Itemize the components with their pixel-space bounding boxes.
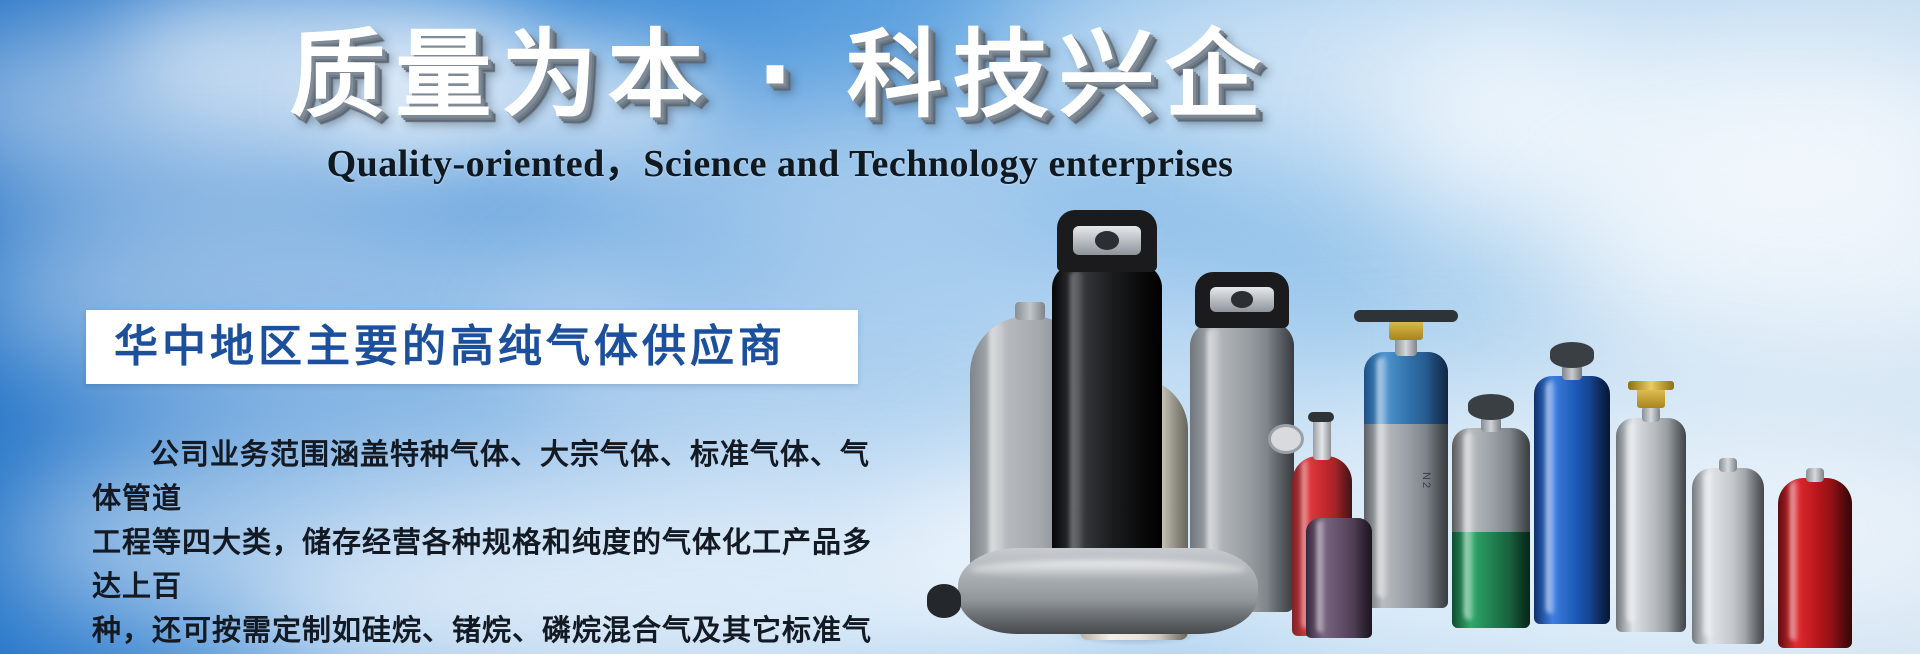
cylinder-neck: [1313, 418, 1331, 460]
cylinder-shade: [958, 601, 1258, 634]
description-paragraph: 公司业务范围涵盖特种气体、大宗气体、标准气体、气体管道 工程等四大类，储存经营各…: [92, 432, 872, 654]
cylinder-neck: [1806, 468, 1824, 482]
cylinder-guard-cap: [1057, 210, 1157, 272]
cylinder-blue-valve: N2: [1364, 352, 1448, 608]
cylinder-body: [1052, 264, 1162, 594]
cylinder-body: [1534, 376, 1610, 624]
cylinder-silver-small: [1692, 468, 1764, 644]
cylinder-black-tall: [1052, 264, 1162, 594]
cylinder-gloss: [1464, 432, 1474, 620]
cylinder-shade: [1355, 518, 1372, 638]
cylinder-neck: [1642, 406, 1660, 422]
cylinder-gloss: [1790, 481, 1800, 641]
cylinder-aluminium: [1616, 418, 1686, 632]
cylinder-shade: [1590, 376, 1610, 624]
cylinder-neck: [1015, 302, 1045, 320]
cylinder-neck: [1719, 458, 1737, 472]
valve-handwheel-icon: [1628, 381, 1674, 390]
cylinder-gloss: [970, 560, 1246, 579]
cylinder-gloss: [1377, 357, 1388, 598]
cylinder-body: [1692, 468, 1764, 644]
cylinder-gloss: [1627, 422, 1636, 623]
pressure-gauge-icon: [1268, 424, 1304, 454]
valve-knob-icon: [1550, 342, 1594, 368]
cylinder-purple: [1306, 518, 1372, 638]
cylinder-carry-handle: [1354, 310, 1458, 322]
cylinder-shade: [1745, 468, 1764, 644]
cylinder-body: N2: [1364, 352, 1448, 608]
valve-knob-icon: [1468, 394, 1514, 420]
gas-cylinder-group: N2: [940, 0, 1920, 654]
paragraph-line-text: 种，还可按需定制如硅烷、锗烷、磷烷混合气及其它标准气体。: [92, 613, 872, 654]
cylinder-green: [1452, 428, 1530, 628]
paragraph-line-text: 公司业务范围涵盖特种气体、大宗气体、标准气体、气体管道: [92, 437, 870, 515]
cylinder-body: [1452, 428, 1530, 628]
cylinder-body: [1778, 478, 1852, 648]
brass-valve-icon: [1637, 388, 1665, 408]
cylinder-label-text: N2: [1420, 472, 1432, 490]
side-valve-icon: [927, 584, 961, 618]
cylinder-gloss: [1704, 472, 1713, 637]
cylinder-shade: [1833, 478, 1852, 648]
regulator-handle: [1308, 412, 1334, 422]
cylinder-shade: [1133, 264, 1162, 594]
cylinder-shade: [1510, 428, 1530, 628]
cylinder-gloss: [1546, 381, 1556, 614]
cylinder-guard-cap: [1195, 272, 1289, 328]
paragraph-line: 种，还可按需定制如硅烷、锗烷、磷烷混合气及其它标准气体。: [92, 608, 872, 654]
callout-box: 华中地区主要的高纯气体供应商: [86, 310, 858, 384]
banner-stage: 质量为本 · 科技兴企 Quality-oriented，Science and…: [0, 0, 1920, 654]
cylinder-gloss: [1070, 271, 1084, 581]
cylinder-red-small: [1778, 478, 1852, 648]
cylinder-body: [1616, 418, 1686, 632]
cylinder-shade: [1668, 418, 1686, 632]
cylinder-body: [1306, 518, 1372, 638]
paragraph-line: 工程等四大类，储存经营各种规格和纯度的气体化工产品多达上百: [92, 520, 872, 608]
cylinder-royal-blue: [1534, 376, 1610, 624]
cylinder-gloss: [1317, 520, 1326, 633]
callout-text: 华中地区主要的高纯气体供应商: [86, 325, 786, 369]
cylinder-lying-grey: [958, 548, 1258, 634]
cylinder-shade: [1267, 322, 1294, 612]
paragraph-line-text: 工程等四大类，储存经营各种规格和纯度的气体化工产品多达上百: [92, 525, 872, 603]
paragraph-line: 公司业务范围涵盖特种气体、大宗气体、标准气体、气体管道: [92, 432, 872, 520]
